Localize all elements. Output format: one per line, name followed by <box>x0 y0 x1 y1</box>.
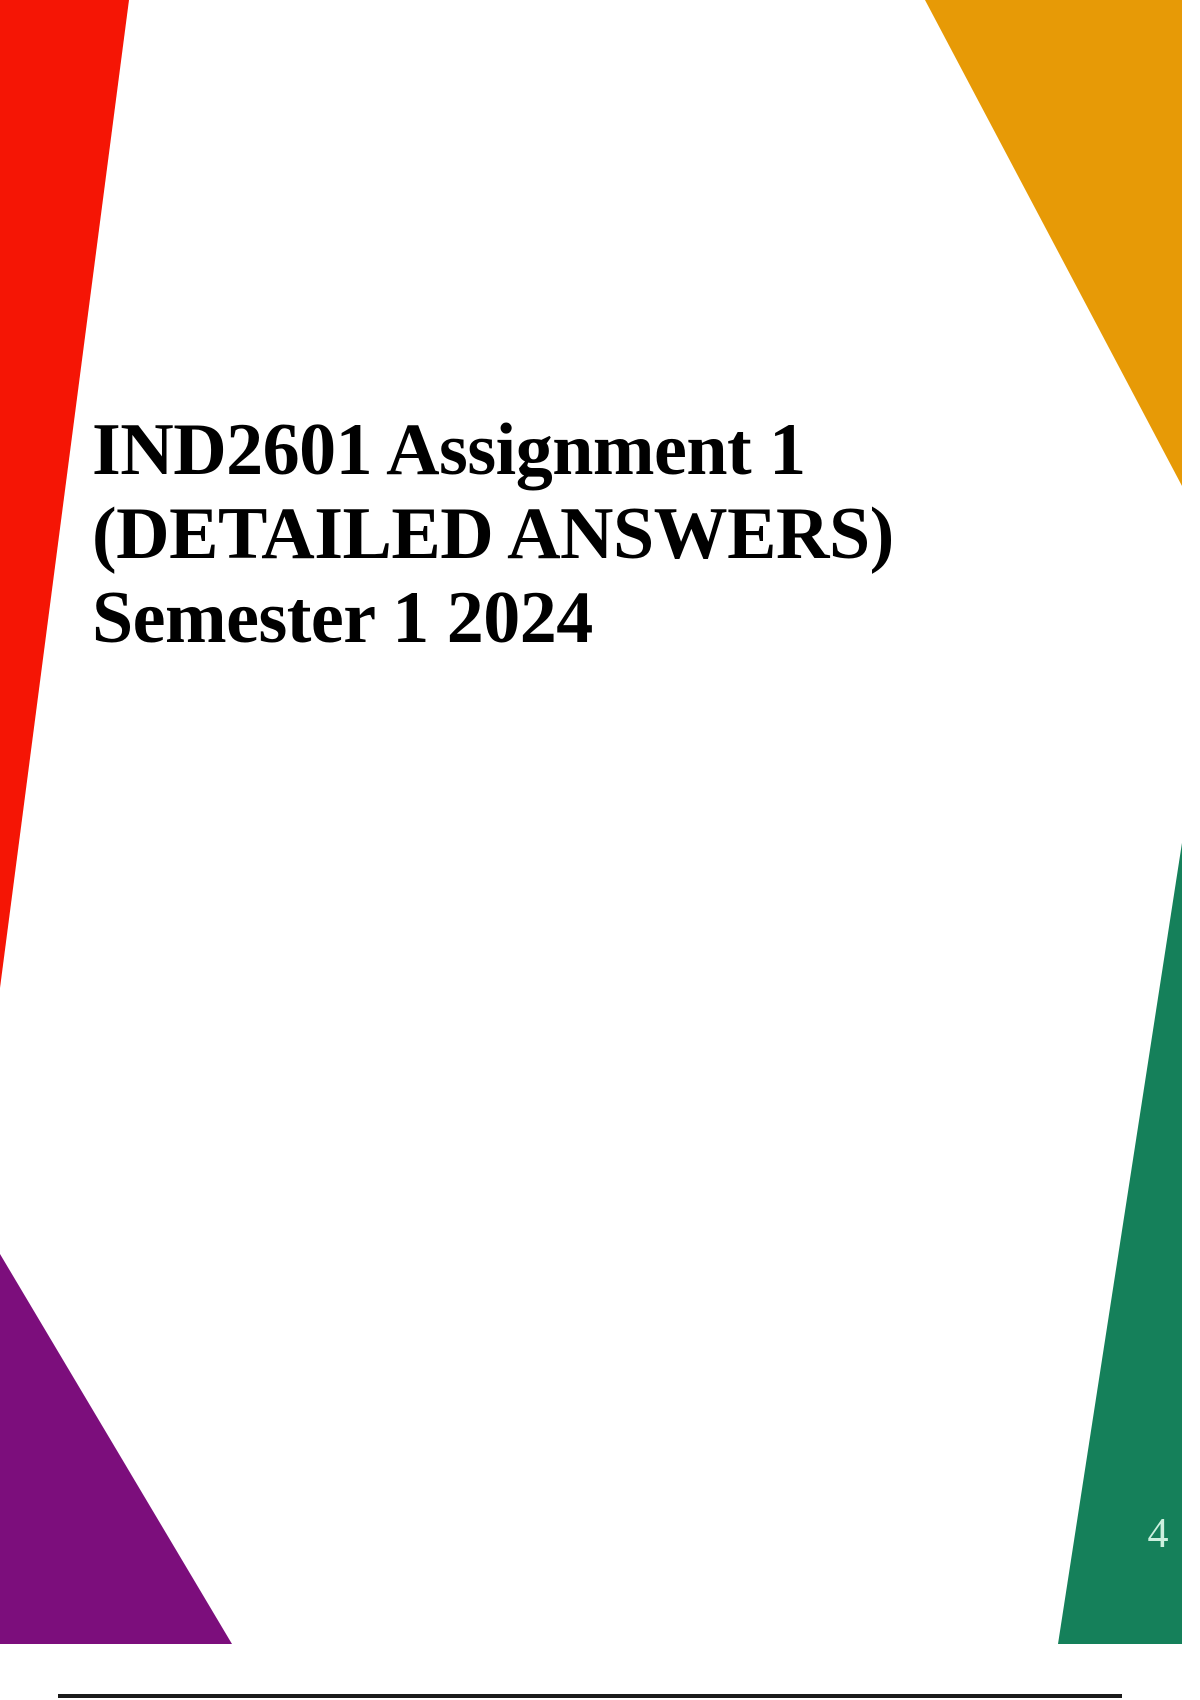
page-right-gutter <box>1182 0 1200 1644</box>
page-title-line-2: (DETAILED ANSWERS) <box>92 492 952 576</box>
page-title-line-1: IND2601 Assignment 1 <box>92 408 952 492</box>
orange-wedge-decoration-icon <box>0 0 1200 1644</box>
page-separator-rule <box>58 1694 1122 1698</box>
page-number: 4 <box>1138 1508 1178 1560</box>
cover-sheet: IND2601 Assignment 1 (DETAILED ANSWERS) … <box>0 0 1200 1644</box>
page-title: IND2601 Assignment 1 (DETAILED ANSWERS) … <box>92 408 952 660</box>
page-title-line-3: Semester 1 2024 <box>92 576 952 660</box>
red-wedge-decoration-icon <box>0 0 1200 1644</box>
document-page: IND2601 Assignment 1 (DETAILED ANSWERS) … <box>0 0 1200 1700</box>
purple-wedge-decoration-icon <box>0 0 1200 1644</box>
green-wedge-decoration-icon <box>0 0 1200 1644</box>
